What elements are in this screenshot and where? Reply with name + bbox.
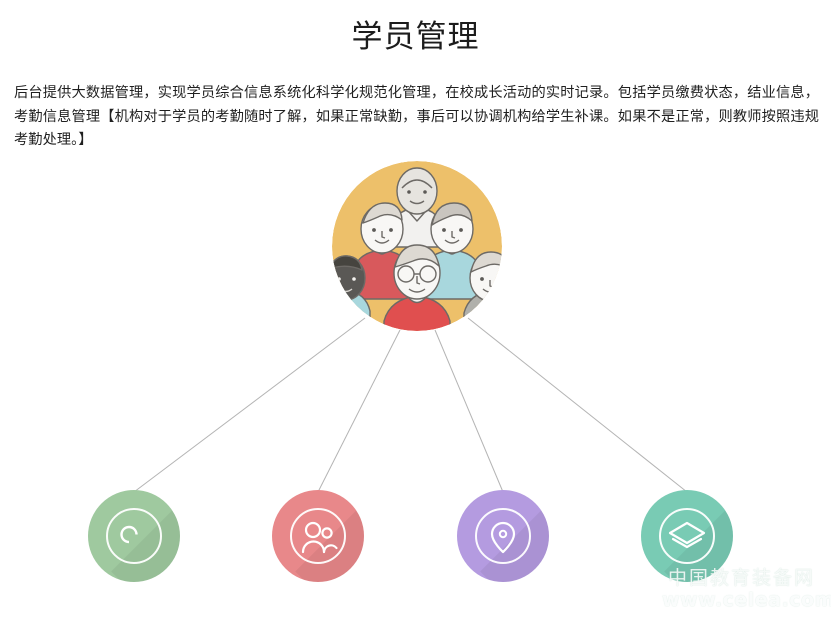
infinity-loop-icon [88, 490, 180, 582]
map-pin-icon [457, 490, 549, 582]
node-users[interactable] [272, 490, 364, 582]
node-icon-wrap [641, 490, 733, 582]
node-icon-wrap [88, 490, 180, 582]
family-users-icon [272, 490, 364, 582]
graduation-layers-icon [641, 490, 733, 582]
node-infinity[interactable] [88, 490, 180, 582]
node-education[interactable] [641, 490, 733, 582]
node-icon-wrap [457, 490, 549, 582]
page-root: 学员管理 后台提供大数据管理，实现学员综合信息系统化科学化规范化管理，在校成长活… [0, 0, 831, 617]
node-location[interactable] [457, 490, 549, 582]
group-of-people-illustration [332, 161, 502, 331]
hub-circle[interactable] [332, 161, 502, 331]
radial-diagram [0, 0, 831, 617]
node-icon-wrap [272, 490, 364, 582]
